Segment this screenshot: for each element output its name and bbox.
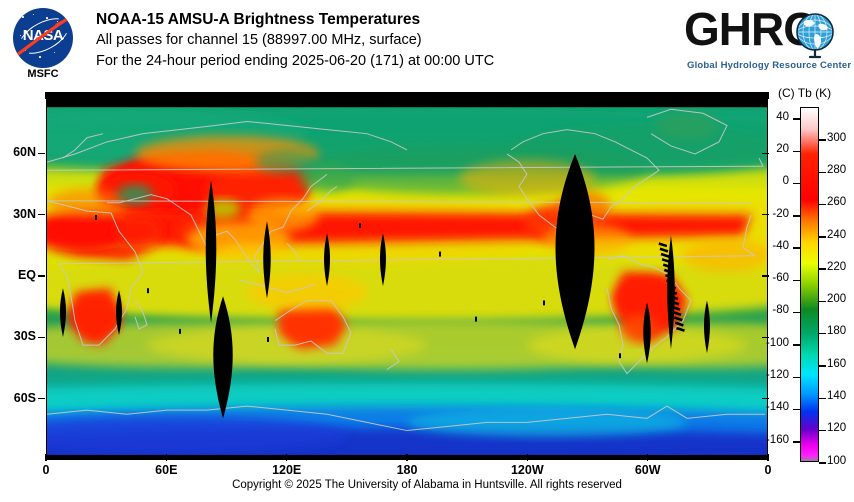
colorbar-kelvin-tick	[819, 301, 826, 303]
colorbar-kelvin-tick	[819, 365, 826, 367]
colorbar-kelvin-tick	[819, 172, 826, 174]
colorbar-kelvin-tick	[819, 139, 826, 141]
colorbar-kelvin-tick	[819, 268, 826, 270]
longitude-tick-top	[286, 92, 288, 99]
colorbar-celsius-tick	[793, 280, 800, 282]
colorbar-celsius-label: 0	[755, 175, 789, 187]
latitude-tick	[38, 337, 45, 339]
nasa-meatball-icon: NASA	[13, 8, 73, 68]
temperature-region	[115, 215, 163, 248]
latitude-label: 30S	[0, 329, 36, 343]
satellite-data-gap-small	[619, 353, 621, 358]
colorbar-celsius-tick	[793, 312, 800, 314]
temperature-region	[407, 408, 687, 436]
colorbar-celsius-tick	[793, 409, 800, 411]
colorbar-header: (C) Tb (K)	[778, 86, 831, 100]
colorbar-celsius-label: 20	[755, 143, 789, 155]
colorbar-kelvin-label: 180	[827, 325, 846, 337]
colorbar-celsius-label: -20	[755, 208, 789, 220]
satellite-data-gap-small	[95, 215, 97, 220]
colorbar-celsius-tick	[793, 118, 800, 120]
colorbar-gradient	[801, 108, 818, 461]
title-block: NOAA-15 AMSU-A Brightness Temperatures A…	[96, 9, 494, 72]
latitude-label: 30N	[0, 207, 36, 221]
colorbar-celsius-tick	[793, 247, 800, 249]
colorbar-kelvin-tick	[819, 333, 826, 335]
ghrc-logo: GHRC Global Hydrology Resource Ce	[684, 6, 848, 78]
nasa-swoosh-icon	[13, 12, 73, 64]
colorbar-celsius-label: -80	[755, 304, 789, 316]
colorbar-celsius-tick	[793, 344, 800, 346]
brightness-temperature-heatmap[interactable]	[47, 93, 767, 459]
colorbar-celsius-tick	[793, 215, 800, 217]
satellite-data-gap-small	[475, 317, 477, 322]
latitude-label: 60S	[0, 391, 36, 405]
longitude-tick-top	[647, 92, 649, 99]
map-plot-area[interactable]	[46, 92, 768, 460]
temperature-region	[621, 315, 657, 343]
satellite-data-gap-small	[267, 337, 269, 342]
nasa-center-label: MSFC	[13, 68, 73, 80]
longitude-label: 120W	[499, 463, 555, 477]
latitude-tick	[38, 275, 45, 277]
latitude-label: EQ	[0, 268, 36, 282]
temperature-region	[655, 111, 719, 139]
colorbar-kelvin-label: 160	[827, 358, 846, 370]
colorbar-kelvin-label: 240	[827, 229, 846, 241]
subtitle-period: For the 24-hour period ending 2025-06-20…	[96, 51, 494, 72]
longitude-tick	[527, 454, 529, 461]
colorbar-celsius-label: -160	[755, 434, 789, 446]
latitude-tick-right	[762, 398, 769, 400]
colorbar-kelvin-label: 100	[827, 455, 846, 467]
longitude-label: 0	[740, 463, 796, 477]
longitude-tick-top	[406, 92, 408, 99]
longitude-tick-top	[767, 92, 769, 99]
ghrc-subtitle: Global Hydrology Resource Center	[687, 60, 851, 71]
longitude-tick	[406, 454, 408, 461]
longitude-tick	[45, 454, 47, 461]
colorbar-celsius-tick	[793, 183, 800, 185]
colorbar-kelvin-tick	[819, 430, 826, 432]
page-title: NOAA-15 AMSU-A Brightness Temperatures	[96, 9, 494, 30]
colorbar-kelvin-label: 120	[827, 422, 846, 434]
nasa-logo: NASA MSFC	[13, 8, 81, 76]
colorbar-celsius-label: -120	[755, 369, 789, 381]
satellite-data-gap-small	[359, 223, 361, 228]
longitude-label: 60E	[138, 463, 194, 477]
copyright-notice: Copyright © 2025 The University of Alaba…	[0, 479, 854, 491]
colorbar-kelvin-label: 280	[827, 164, 846, 176]
temperature-region	[255, 150, 319, 174]
longitude-label: 0	[18, 463, 74, 477]
colorbar-kelvin-label: 220	[827, 261, 846, 273]
colorbar-kelvin-tick	[819, 204, 826, 206]
longitude-label: 60W	[620, 463, 676, 477]
satellite-data-gap-small	[439, 252, 441, 257]
longitude-label: 180	[379, 463, 435, 477]
colorbar-celsius-label: -60	[755, 272, 789, 284]
temperature-region	[283, 309, 339, 342]
satellite-data-gap-small	[543, 300, 545, 305]
longitude-label: 120E	[259, 463, 315, 477]
colorbar-celsius-tick	[793, 377, 800, 379]
longitude-tick	[286, 454, 288, 461]
colorbar-kelvin-label: 260	[827, 196, 846, 208]
colorbar-celsius-label: -40	[755, 240, 789, 252]
brightness-temperature-map-page: NASA MSFC NOAA-15 AMSU-A Brightness Temp…	[0, 0, 854, 502]
longitude-tick-top	[527, 92, 529, 99]
longitude-tick	[166, 454, 168, 461]
latitude-label: 60N	[0, 145, 36, 159]
colorbar-kelvin-tick	[819, 398, 826, 400]
latitude-tick	[38, 398, 45, 400]
colorbar-kelvin-tick	[819, 462, 826, 464]
colorbar-kelvin-label: 140	[827, 390, 846, 402]
colorbar-kelvin-label: 300	[827, 132, 846, 144]
longitude-tick	[767, 454, 769, 461]
colorbar-celsius-tick	[793, 151, 800, 153]
colorbar-celsius-label: -140	[755, 401, 789, 413]
satellite-data-gap-small	[147, 288, 149, 293]
colorbar-kelvin-tick	[819, 236, 826, 238]
colorbar-kelvin-label: 200	[827, 293, 846, 305]
colorbar[interactable]	[800, 107, 819, 462]
longitude-tick-top	[45, 92, 47, 99]
longitude-tick	[647, 454, 649, 461]
colorbar-celsius-label: -100	[755, 337, 789, 349]
latitude-tick	[38, 214, 45, 216]
longitude-tick-top	[166, 92, 168, 99]
globe-icon	[792, 10, 842, 60]
satellite-data-gap-small	[179, 329, 181, 334]
subtitle-channel: All passes for channel 15 (88997.00 MHz,…	[96, 30, 494, 51]
colorbar-celsius-tick	[793, 441, 800, 443]
colorbar-celsius-label: 40	[755, 111, 789, 123]
latitude-tick	[38, 153, 45, 155]
